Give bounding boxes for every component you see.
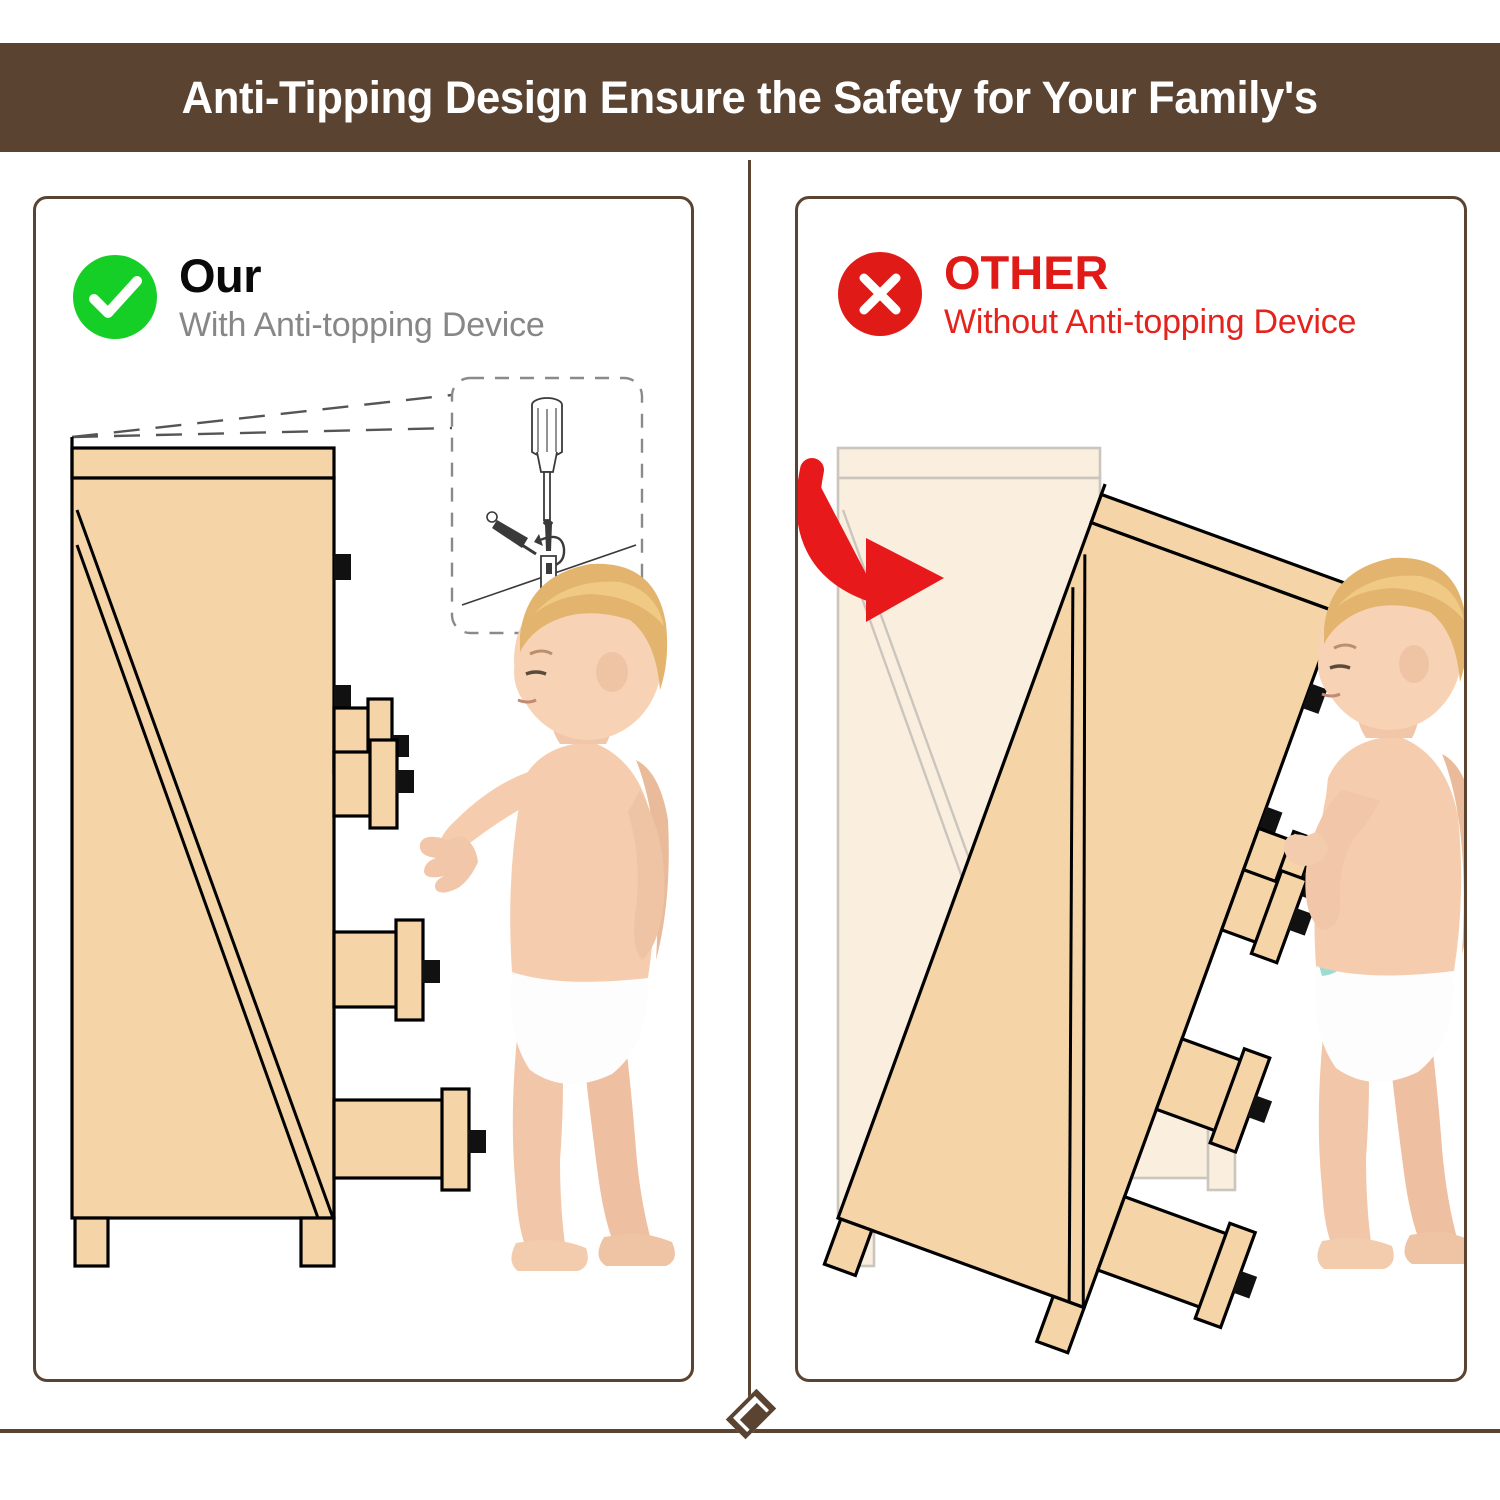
other-title: OTHER xyxy=(944,249,1356,297)
our-title: Our xyxy=(179,252,545,300)
page-title: Anti-Tipping Design Ensure the Safety fo… xyxy=(182,72,1318,124)
comparison-panel-our xyxy=(33,196,694,1382)
x-circle-icon xyxy=(838,252,922,336)
our-subtitle: With Anti-topping Device xyxy=(179,306,545,345)
other-heading-row: OTHER Without Anti-topping Device xyxy=(838,249,1356,342)
check-circle-icon xyxy=(73,255,157,339)
our-heading-row: Our With Anti-topping Device xyxy=(73,252,545,345)
other-subtitle: Without Anti-topping Device xyxy=(944,303,1356,342)
comparison-panel-other xyxy=(795,196,1467,1382)
vertical-divider xyxy=(748,160,751,1432)
header-bar: Anti-Tipping Design Ensure the Safety fo… xyxy=(0,43,1500,152)
